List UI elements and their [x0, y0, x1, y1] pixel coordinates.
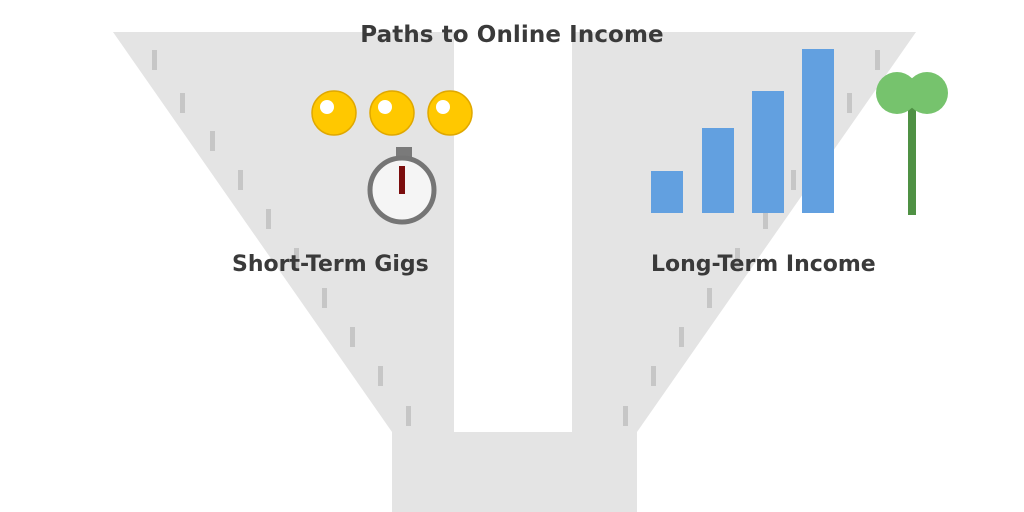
coin-highlight-1 — [378, 100, 392, 114]
plant-stem-icon — [908, 96, 916, 215]
growth-bar-0 — [651, 171, 683, 213]
coin-icon-0 — [312, 91, 356, 135]
funnel-tick-left-3 — [238, 170, 243, 190]
coin-icon-1 — [370, 91, 414, 135]
funnel-tick-left-7 — [350, 327, 355, 347]
growth-bar-2 — [752, 91, 784, 213]
stopwatch-hand-icon — [399, 166, 405, 194]
funnel-tick-left-2 — [210, 131, 215, 151]
funnel-tick-left-6 — [322, 288, 327, 308]
short-term-gigs-label: Short-Term Gigs — [232, 252, 429, 277]
funnel-tick-left-4 — [266, 209, 271, 229]
funnel-tick-left-8 — [378, 366, 383, 386]
funnel-tick-right-6 — [707, 288, 712, 308]
funnel-tick-right-7 — [679, 327, 684, 347]
growth-bar-3 — [802, 49, 834, 213]
coin-highlight-0 — [320, 100, 334, 114]
funnel-tick-right-9 — [623, 406, 628, 426]
funnel-center-divider — [454, 32, 572, 432]
funnel-tick-right-3 — [791, 170, 796, 190]
funnel-tick-left-9 — [406, 406, 411, 426]
infographic-canvas: Paths to Online Income Short-Term Gigs L… — [0, 0, 1024, 512]
page-title: Paths to Online Income — [0, 22, 1024, 48]
growth-bar-1 — [702, 128, 734, 213]
coins-group — [312, 91, 472, 135]
coin-highlight-2 — [436, 100, 450, 114]
coin-icon-2 — [428, 91, 472, 135]
plant-group — [876, 72, 948, 215]
funnel-tick-right-1 — [847, 93, 852, 113]
funnel-tick-right-0 — [875, 50, 880, 70]
long-term-income-label: Long-Term Income — [651, 252, 876, 277]
plant-leaf-icon-1 — [906, 72, 948, 114]
funnel-tick-left-1 — [180, 93, 185, 113]
funnel-tick-left-0 — [152, 50, 157, 70]
funnel-tick-right-8 — [651, 366, 656, 386]
